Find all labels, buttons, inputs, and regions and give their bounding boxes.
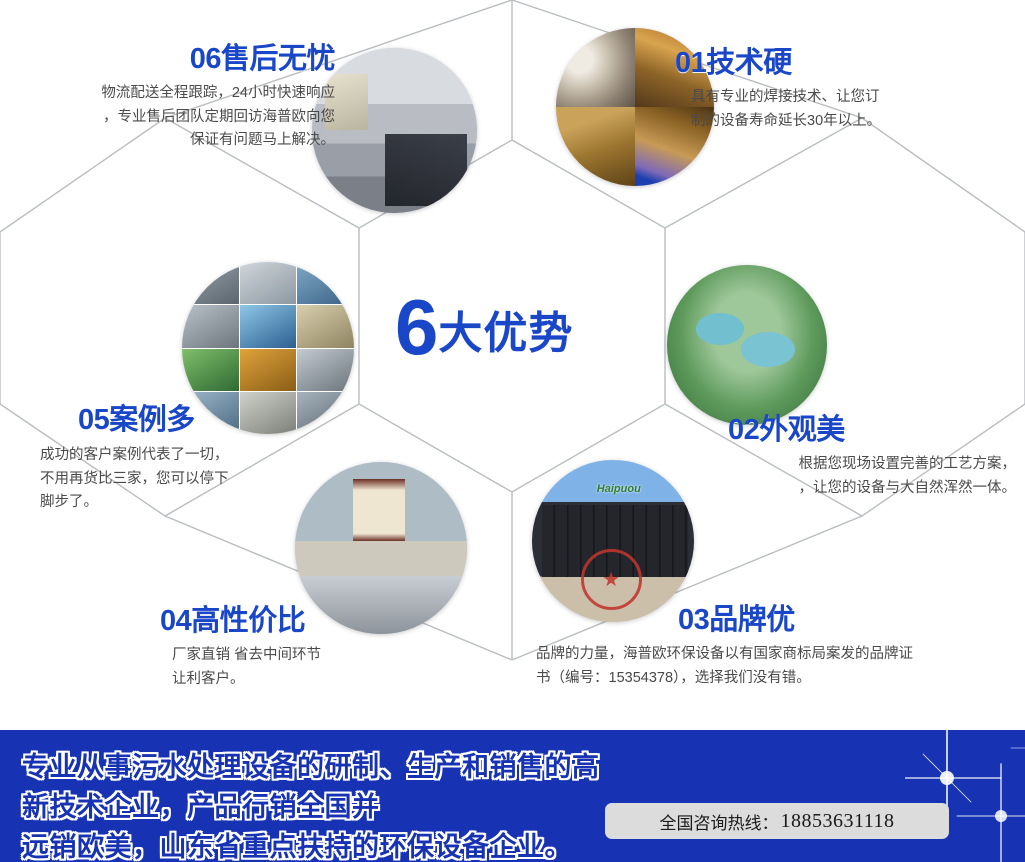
- footer-slogan-line2: 远销欧美，山东省重点扶持的环保设备企业。: [22, 832, 572, 862]
- advantage-heading-01: 01技术硬: [675, 48, 1005, 78]
- advantage-block-01: 01技术硬 具有专业的焊接技术、让您订 制的设备寿命延长30年以上。: [675, 48, 1005, 133]
- plant-aerial-photo: [667, 265, 827, 425]
- hotline-number: 18853631118: [780, 810, 894, 833]
- advantage-body-01: 具有专业的焊接技术、让您订 制的设备寿命延长30年以上。: [691, 86, 1005, 133]
- advantage-body-06: 物流配送全程跟踪，24小时快速响应 ，专业售后团队定期回访海普欧向您 保证有问题…: [10, 82, 335, 152]
- advantage-block-04: 04高性价比 厂家直销 省去中间环节 让利客户。: [160, 606, 460, 691]
- advantage-body-01-line2: 制的设备寿命延长30年以上。: [691, 110, 1005, 133]
- advantage-body-04-line2: 让利客户。: [172, 668, 460, 691]
- footer-slogan-line1: 专业从事污水处理设备的研制、生产和销售的高新技术企业，产品行销全国并: [22, 752, 600, 822]
- advantage-body-04-line1: 厂家直销 省去中间环节: [172, 644, 460, 667]
- hotline-label: 全国咨询热线：: [659, 809, 778, 834]
- advantage-body-02-line2: ，让您的设备与大自然浑然一体。: [728, 477, 1016, 500]
- advantage-body-04: 厂家直销 省去中间环节 让利客户。: [172, 644, 460, 691]
- advantage-body-02: 根据您现场设置完善的工艺方案， ，让您的设备与大自然浑然一体。: [728, 453, 1016, 500]
- center-title: 6大优势: [395, 288, 573, 366]
- advantage-body-03-line1: 品牌的力量，海普欧环保设备以有国家商标局案发的品牌证: [536, 643, 1016, 666]
- advantage-image-02: [667, 265, 827, 425]
- brand-watermark: Haipuou: [597, 483, 641, 495]
- advantage-block-05: 05案例多 成功的客户案例代表了一切， 不用再货比三家，您可以停下 脚步了。: [40, 405, 340, 515]
- advantage-body-05: 成功的客户案例代表了一切， 不用再货比三家，您可以停下 脚步了。: [40, 444, 340, 514]
- advantage-block-03: 03品牌优 品牌的力量，海普欧环保设备以有国家商标局案发的品牌证 书（编号：15…: [536, 605, 1016, 690]
- advantage-heading-06: 06售后无忧: [10, 44, 335, 74]
- advantage-heading-05: 05案例多: [78, 405, 340, 435]
- trademark-seal-icon: ★: [581, 549, 642, 610]
- advantage-heading-02: 02外观美: [728, 415, 1025, 445]
- advantage-body-01-line1: 具有专业的焊接技术、让您订: [691, 86, 1005, 109]
- center-number: 6: [395, 283, 438, 371]
- advantage-heading-04: 04高性价比: [160, 606, 460, 636]
- advantage-image-03: Haipuou ★: [532, 460, 694, 622]
- advantage-block-06: 06售后无忧 物流配送全程跟踪，24小时快速响应 ，专业售后团队定期回访海普欧向…: [10, 44, 335, 153]
- advantage-image-06: [312, 48, 477, 213]
- advantage-body-06-line3: 保证有问题马上解决。: [10, 129, 335, 152]
- advantage-block-02: 02外观美 根据您现场设置完善的工艺方案， ，让您的设备与大自然浑然一体。: [728, 415, 1025, 500]
- equipment-photo: Haipuou ★: [532, 460, 694, 622]
- advantage-body-05-line1: 成功的客户案例代表了一切，: [40, 444, 340, 467]
- advantage-body-02-line1: 根据您现场设置完善的工艺方案，: [728, 453, 1016, 476]
- footer-slogan: 专业从事污水处理设备的研制、生产和销售的高新技术企业，产品行销全国并 远销欧美，…: [22, 748, 602, 862]
- advantage-body-05-line2: 不用再货比三家，您可以停下: [40, 468, 340, 491]
- footer-banner: 专业从事污水处理设备的研制、生产和销售的高新技术企业，产品行销全国并 远销欧美，…: [0, 730, 1025, 862]
- advantage-body-06-line2: ，专业售后团队定期回访海普欧向您: [10, 106, 335, 129]
- office-photo: [312, 48, 477, 213]
- advantage-body-03: 品牌的力量，海普欧环保设备以有国家商标局案发的品牌证 书（编号：15354378…: [536, 643, 1016, 690]
- advantage-heading-03: 03品牌优: [678, 605, 1016, 635]
- hotline-pill[interactable]: 全国咨询热线：18853631118: [605, 803, 949, 839]
- infographic-page: Haipuou ★ 6大优势 06售后无忧 物流配送全程跟踪，24小时快速响应 …: [0, 0, 1025, 862]
- center-suffix: 大优势: [438, 309, 573, 358]
- advantage-body-05-line3: 脚步了。: [40, 491, 340, 514]
- sparkle-icon-1: [905, 730, 1025, 862]
- advantage-body-03-line2: 书（编号：15354378），选择我们没有错。: [536, 667, 1016, 690]
- advantage-body-06-line1: 物流配送全程跟踪，24小时快速响应: [10, 82, 335, 105]
